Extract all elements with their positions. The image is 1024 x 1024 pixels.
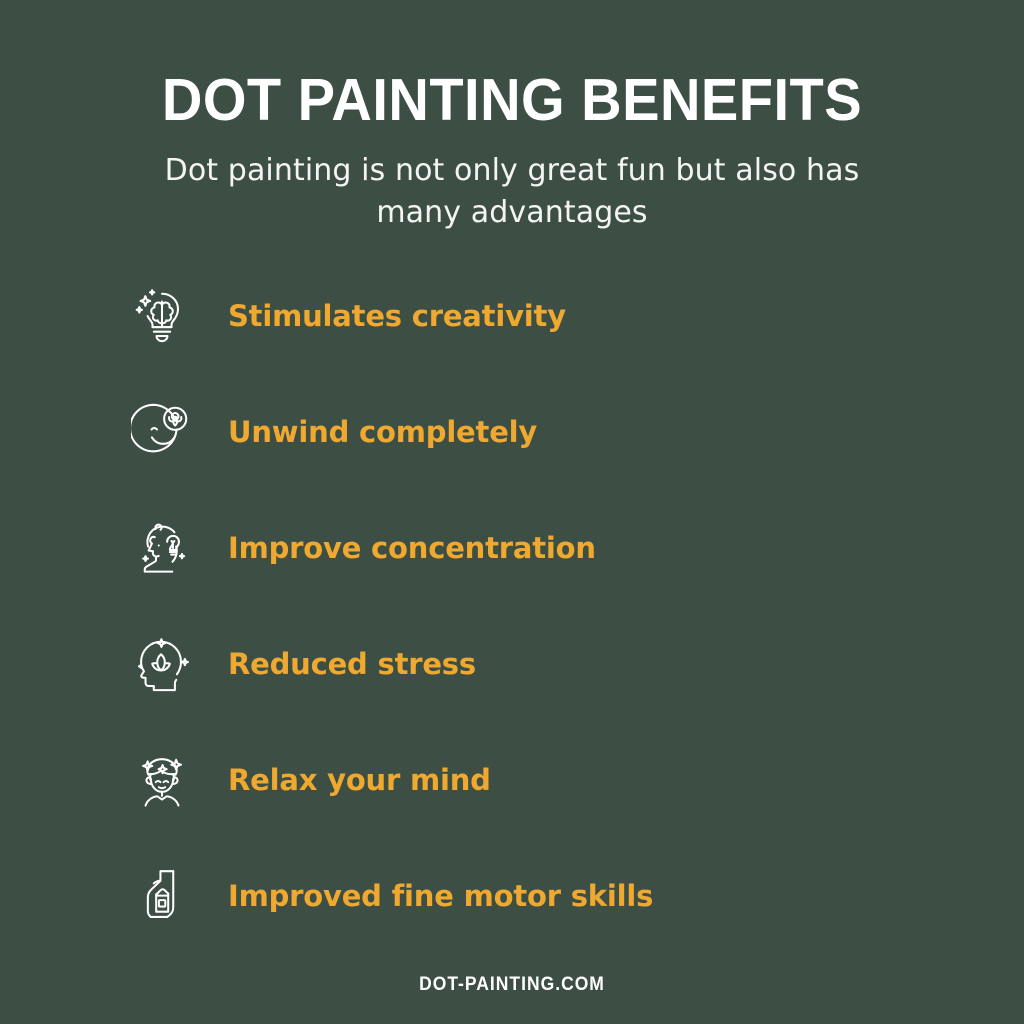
head-lotus-icon — [128, 628, 196, 700]
benefit-label: Stimulates creativity — [228, 299, 566, 333]
page-subtitle: Dot painting is not only great fun but a… — [142, 150, 882, 234]
list-item: Improve concentration — [128, 504, 928, 592]
benefits-list: Stimulates creativity Unw — [128, 272, 928, 968]
poster-footer: DOT-PAINTING.COM — [0, 974, 1024, 996]
list-item: Stimulates creativity — [128, 272, 928, 360]
page-title: DOT PAINTING BENEFITS — [26, 64, 999, 136]
benefit-label: Reduced stress — [228, 647, 476, 681]
list-item: Improved fine motor skills — [128, 852, 928, 940]
hand-holding-block-icon — [128, 860, 196, 932]
benefit-label: Improve concentration — [228, 531, 596, 565]
website-url: DOT-PAINTING.COM — [419, 974, 605, 996]
list-item: Unwind completely — [128, 388, 928, 476]
benefit-label: Improved fine motor skills — [228, 879, 653, 913]
poster-header: DOT PAINTING BENEFITS Dot painting is no… — [0, 64, 1024, 234]
benefit-label: Unwind completely — [228, 415, 537, 449]
brain-lightbulb-icon — [128, 280, 196, 352]
smiley-flower-icon — [128, 396, 196, 468]
list-item: Relax your mind — [128, 736, 928, 824]
poster-canvas: DOT PAINTING BENEFITS Dot painting is no… — [0, 0, 1024, 1024]
benefit-label: Relax your mind — [228, 763, 491, 797]
relaxed-face-icon — [128, 744, 196, 816]
head-lightbulb-icon — [128, 512, 196, 584]
list-item: Reduced stress — [128, 620, 928, 708]
